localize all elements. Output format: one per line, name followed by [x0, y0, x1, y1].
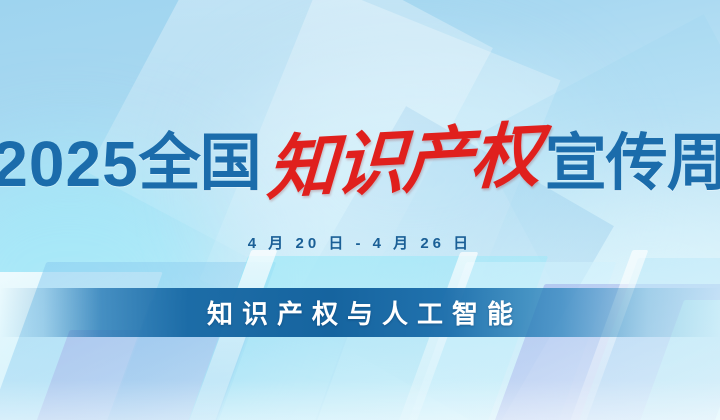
poster-banner: 2025 全国 知识产权 宣传周 4 月 20 日 - 4 月 26 日 知识产… — [0, 0, 720, 420]
title-year: 2025 — [0, 132, 139, 196]
date-range: 4 月 20 日 - 4 月 26 日 — [0, 232, 720, 253]
theme-bar-text: 知识产权与人工智能 — [198, 294, 522, 331]
background-decoration — [0, 0, 720, 420]
theme-bar: 知识产权与人工智能 — [0, 288, 720, 337]
bottom-fade — [0, 380, 720, 420]
title-suffix: 宣传周 — [545, 133, 720, 195]
theme-bar-inner: 知识产权与人工智能 — [0, 288, 720, 337]
title-scope: 全国 — [139, 133, 261, 195]
title-highlight-calligraphy: 知识产权 — [259, 121, 546, 206]
main-title: 2025 全国 知识产权 宣传周 — [0, 128, 720, 200]
